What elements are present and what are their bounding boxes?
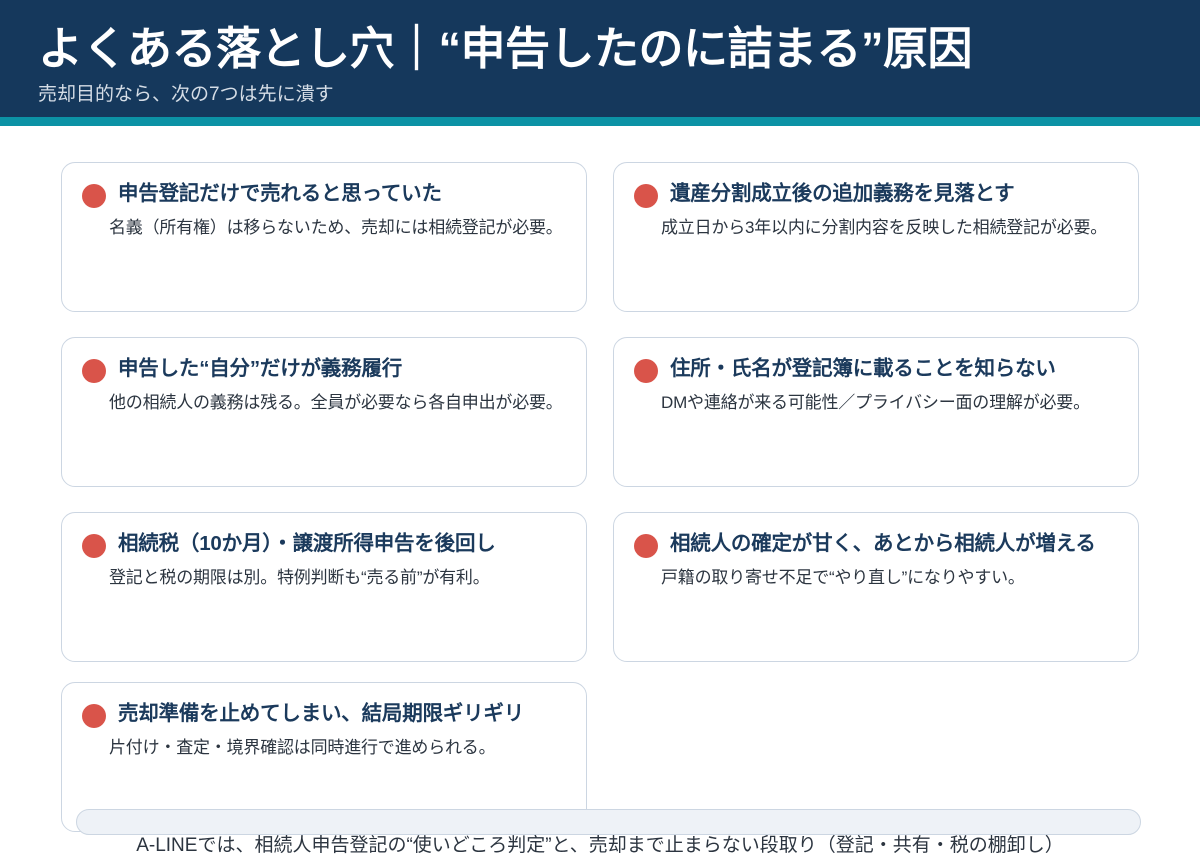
pitfall-card-grid: 申告登記だけで売れると思っていた 名義（所有権）は移らないため、売却には相続登記…: [0, 126, 1200, 816]
pitfall-card[interactable]: 申告登記だけで売れると思っていた 名義（所有権）は移らないため、売却には相続登記…: [61, 162, 587, 312]
card-title: 申告した“自分”だけが義務履行: [118, 355, 564, 382]
card-body: 他の相続人の義務は残る。全員が必要なら各自申出が必要。: [109, 390, 569, 416]
card-title: 相続人の確定が甘く、あとから相続人が増える: [670, 530, 1116, 557]
footer-note: A-LINEでは、相続人申告登記の“使いどころ判定”と、売却まで止まらない段取り…: [0, 835, 1200, 858]
bullet-dot-icon: [82, 359, 106, 383]
card-body: 名義（所有権）は移らないため、売却には相続登記が必要。: [109, 215, 569, 241]
card-title: 申告登記だけで売れると思っていた: [118, 180, 564, 207]
card-body: DMや連絡が来る可能性／プライバシー面の理解が必要。: [661, 390, 1121, 416]
bullet-dot-icon: [634, 359, 658, 383]
page-title: よくある落とし穴｜“申告したのに詰まる”原因: [38, 26, 972, 71]
pitfall-card[interactable]: 相続税（10か月）・譲渡所得申告を後回し 登記と税の期限は別。特例判断も“売る前…: [61, 512, 587, 662]
pitfall-card[interactable]: 申告した“自分”だけが義務履行 他の相続人の義務は残る。全員が必要なら各自申出が…: [61, 337, 587, 487]
pitfall-card[interactable]: 住所・氏名が登記簿に載ることを知らない DMや連絡が来る可能性／プライバシー面の…: [613, 337, 1139, 487]
pitfall-card[interactable]: 遺産分割成立後の追加義務を見落とす 成立日から3年以内に分割内容を反映した相続登…: [613, 162, 1139, 312]
header-accent-bar: [0, 117, 1200, 126]
card-body: 戸籍の取り寄せ不足で“やり直し”になりやすい。: [661, 565, 1121, 591]
card-body: 片付け・査定・境界確認は同時進行で進められる。: [109, 735, 569, 761]
page-subtitle: 売却目的なら、次の7つは先に潰す: [38, 85, 334, 104]
bullet-dot-icon: [634, 184, 658, 208]
card-title: 遺産分割成立後の追加義務を見落とす: [670, 180, 1116, 207]
page-header: よくある落とし穴｜“申告したのに詰まる”原因 売却目的なら、次の7つは先に潰す: [0, 0, 1200, 117]
footer-band: [76, 809, 1141, 835]
card-title: 売却準備を止めてしまい、結局期限ギリギリ: [118, 700, 564, 727]
pitfall-card[interactable]: 相続人の確定が甘く、あとから相続人が増える 戸籍の取り寄せ不足で“やり直し”にな…: [613, 512, 1139, 662]
bullet-dot-icon: [82, 704, 106, 728]
bullet-dot-icon: [82, 184, 106, 208]
bullet-dot-icon: [634, 534, 658, 558]
card-title: 住所・氏名が登記簿に載ることを知らない: [670, 355, 1116, 382]
bullet-dot-icon: [82, 534, 106, 558]
card-body: 成立日から3年以内に分割内容を反映した相続登記が必要。: [661, 215, 1121, 241]
card-body: 登記と税の期限は別。特例判断も“売る前”が有利。: [109, 565, 569, 591]
card-title: 相続税（10か月）・譲渡所得申告を後回し: [118, 530, 564, 557]
